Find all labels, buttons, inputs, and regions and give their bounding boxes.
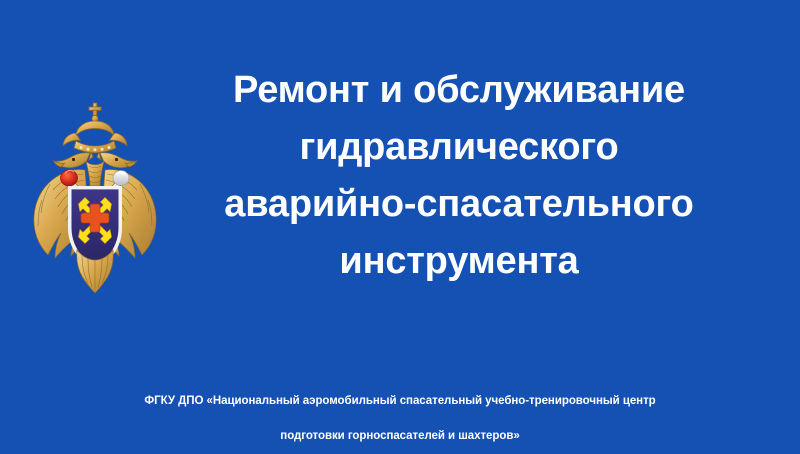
- footer-line-1: ФГКУ ДПО «Национальный аэромобильный спа…: [0, 384, 800, 419]
- title-line-4: инструмента: [178, 233, 740, 290]
- slide-title: Ремонт и обслуживание гидравлического ав…: [178, 62, 740, 290]
- title-line-2: гидравлического: [178, 119, 740, 176]
- title-line-3: аварийно-спасательного: [178, 176, 740, 233]
- title-line-1: Ремонт и обслуживание: [178, 62, 740, 119]
- title-slide: Ремонт и обслуживание гидравлического ав…: [0, 0, 800, 450]
- shield: [68, 186, 122, 270]
- organization-footer: ФГКУ ДПО «Национальный аэромобильный спа…: [0, 384, 800, 454]
- footer-line-2: подготовки горноспасателей и шахтеров»: [0, 419, 800, 454]
- crown-icon: [63, 103, 127, 160]
- emercom-emblem: [28, 100, 162, 296]
